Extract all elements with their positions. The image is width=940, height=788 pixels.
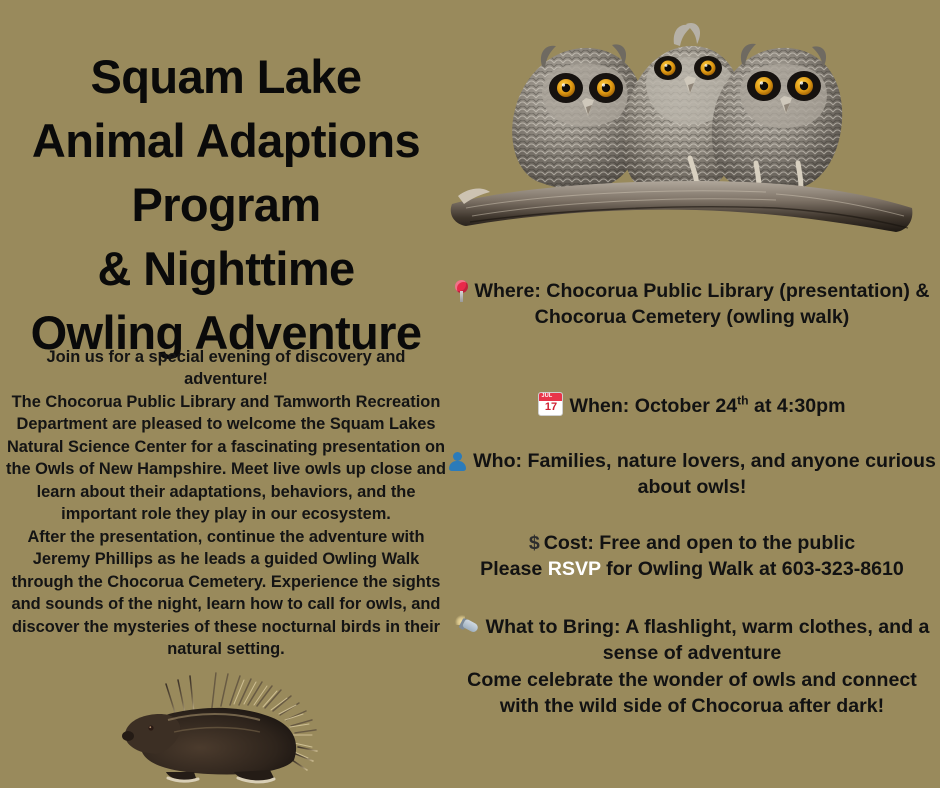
rsvp-highlight: RSVP [548,558,601,580]
event-flyer: Squam Lake Animal Adaptions Program & Ni… [0,0,940,788]
bust-in-silhouette-icon [448,451,467,471]
detail-where-text: Where: Chocorua Public Library (presenta… [474,280,929,328]
round-pushpin-icon [454,280,469,302]
title-line-1: Squam Lake [0,45,452,109]
detail-when-prefix: When: October [569,395,715,417]
detail-where: Where: Chocorua Public Library (presenta… [446,278,938,331]
rsvp-suffix: for Owling Walk at 603-323-8610 [601,558,904,580]
rsvp-prefix: Please [480,558,548,580]
calendar-day-label: 17 [539,401,562,414]
flashlight-icon [455,615,481,637]
body-paragraph-2: After the presentation, continue the adv… [4,526,448,661]
left-column: Squam Lake Animal Adaptions Program & Ni… [0,0,452,788]
detail-closing-line: Come celebrate the wonder of owls and co… [446,667,938,720]
body-paragraph-1: The Chocorua Public Library and Tamworth… [4,391,448,526]
calendar-month-label: JUL [541,393,552,400]
detail-bring-line: What to Bring: A flashlight, warm clothe… [446,614,938,667]
detail-rsvp-line: Please RSVP for Owling Walk at 603-323-8… [446,556,938,582]
detail-when: JUL 17 When: October 24th at 4:30pm [446,392,938,419]
detail-who-text: Who: Families, nature lovers, and anyone… [473,450,936,498]
body-intro: Join us for a special evening of discove… [4,346,448,391]
detail-cost: $Cost: Free and open to the public Pleas… [446,530,938,583]
dollar-sign-icon: $ [529,532,540,554]
detail-cost-text: Cost: Free and open to the public [544,532,855,554]
page-title: Squam Lake Animal Adaptions Program & Ni… [0,45,452,365]
title-line-2: Animal Adaptions [0,109,452,173]
detail-cost-line: $Cost: Free and open to the public [446,530,938,556]
title-line-3: Program [0,173,452,237]
detail-who: Who: Families, nature lovers, and anyone… [446,448,938,501]
detail-when-time: at 4:30pm [749,395,846,417]
detail-when-suffix: th [737,393,748,407]
detail-when-date: 24 [715,395,737,417]
detail-bring-text: What to Bring: A flashlight, warm clothe… [486,616,930,664]
calendar-icon: JUL 17 [538,392,563,416]
three-owlets-photo [446,8,916,256]
porcupine-photo [108,660,344,788]
detail-bring: What to Bring: A flashlight, warm clothe… [446,614,938,719]
body-copy: Join us for a special evening of discove… [4,346,448,661]
right-column: Where: Chocorua Public Library (presenta… [444,0,940,788]
title-line-4: & Nighttime [0,237,452,301]
